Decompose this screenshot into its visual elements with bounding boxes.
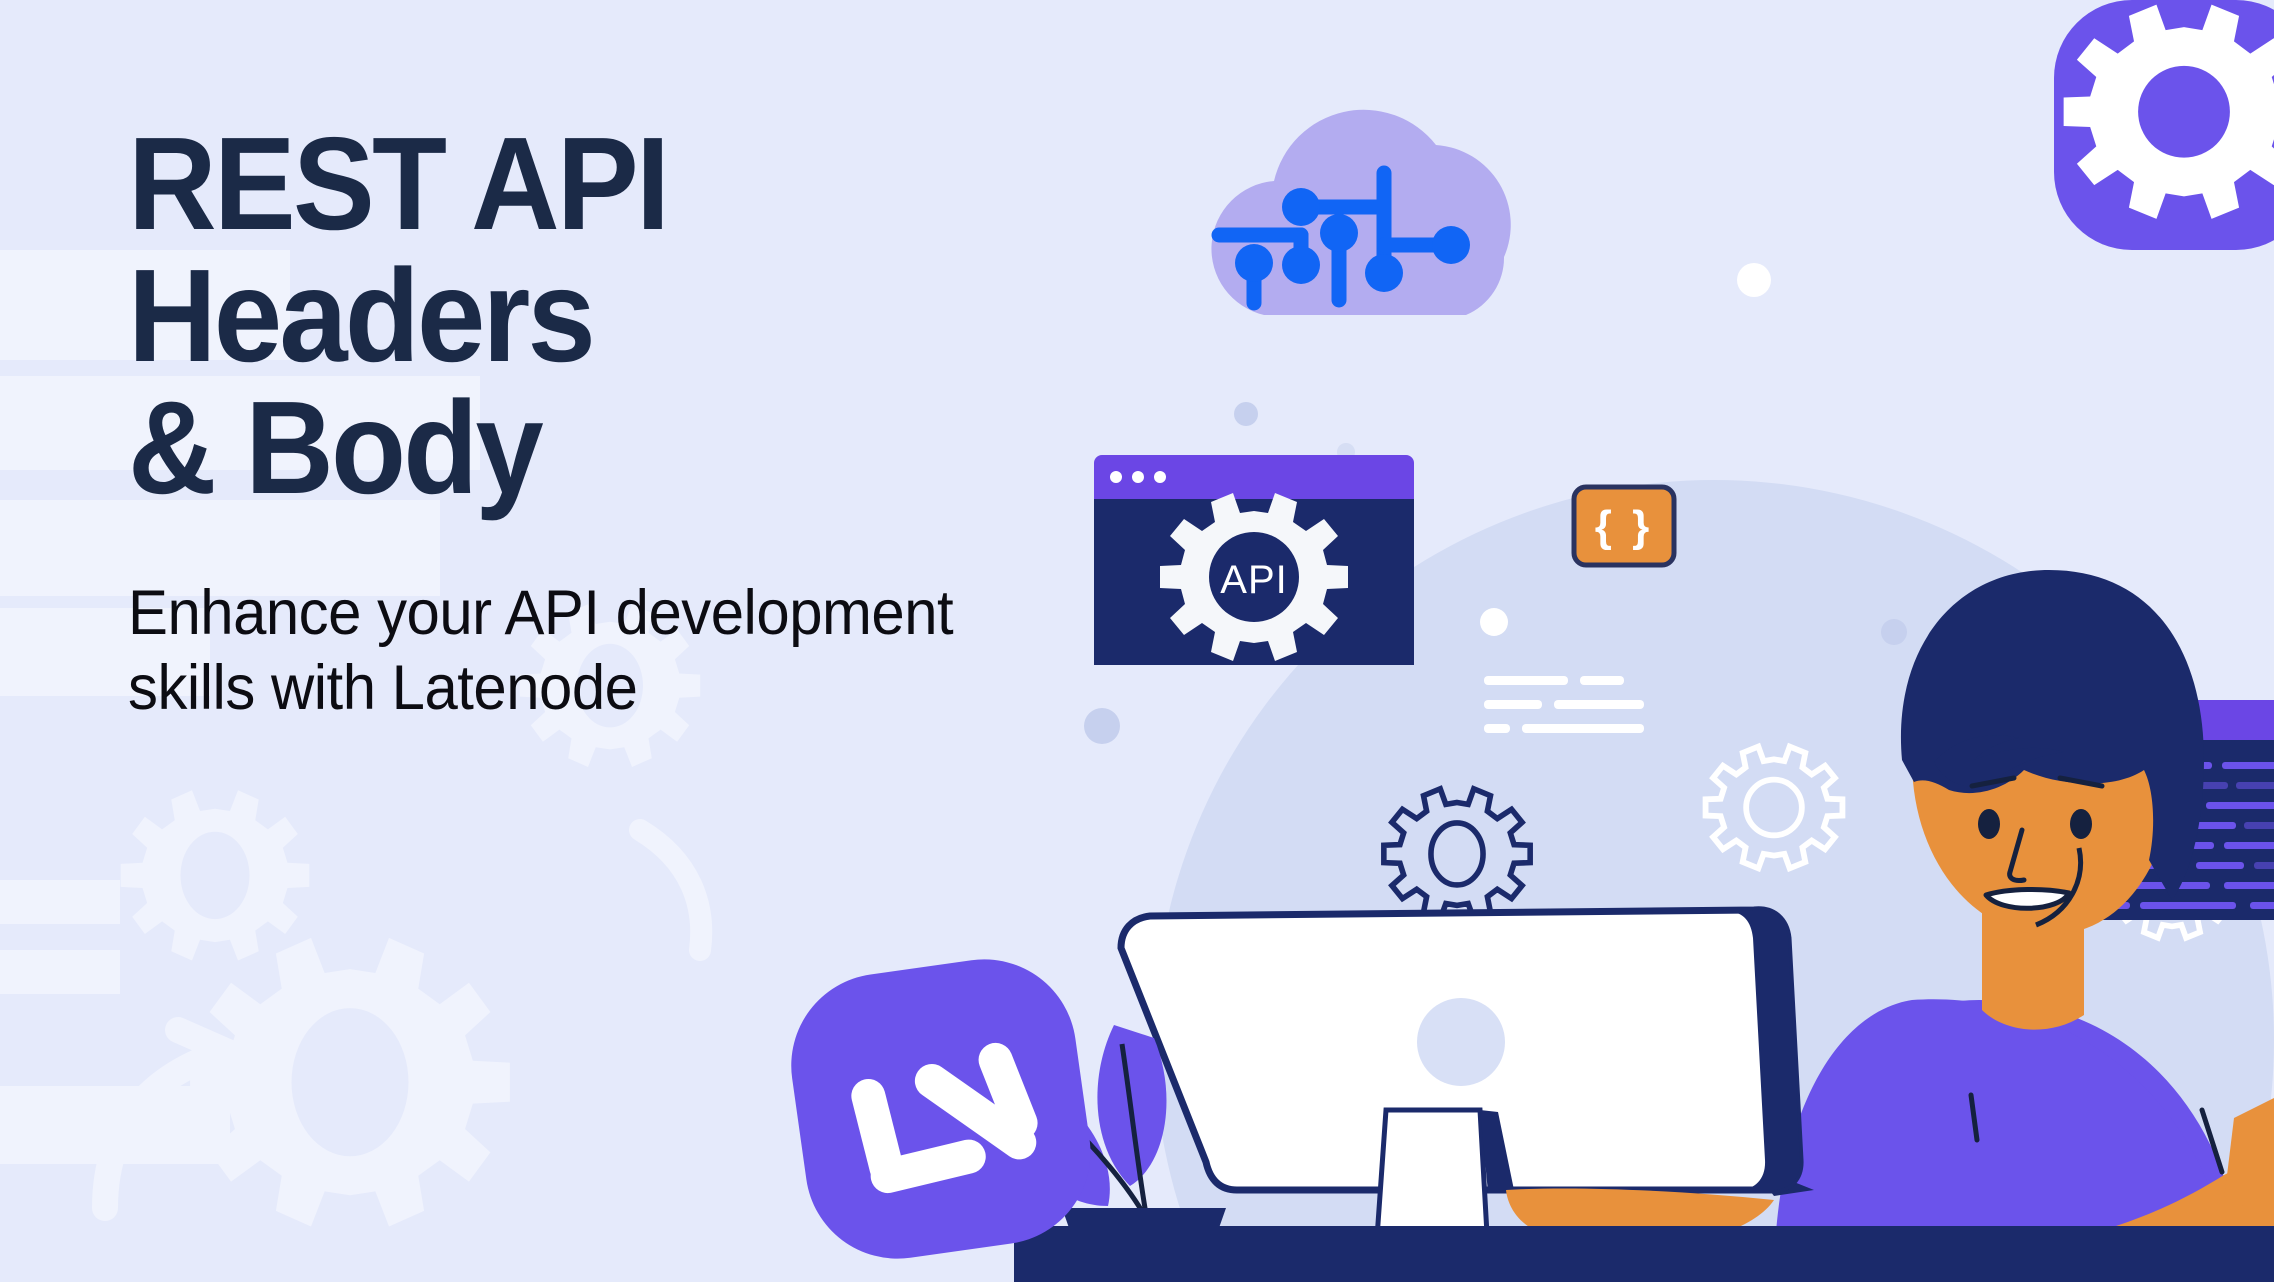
soft-gear-icon [190, 938, 510, 1227]
soft-rectangle [0, 880, 120, 924]
monitor-mount-circle [1417, 998, 1505, 1086]
page-subtitle: Enhance your API development skills with… [128, 576, 983, 726]
person-eye [2070, 809, 2092, 839]
hero-illustration: { } API [1074, 0, 2274, 1282]
banner-root: REST API Headers & Body Enhance your API… [0, 0, 2274, 1282]
person-mouth [1986, 889, 2069, 908]
soft-arc-icon [640, 830, 701, 950]
cloud-icon [1211, 110, 1510, 315]
soft-rectangle [0, 950, 120, 994]
json-badge: { } [1574, 487, 1674, 565]
logo-badge-square [779, 947, 1102, 1270]
desk-edge [1014, 1226, 2274, 1240]
person-eye [1978, 809, 2000, 839]
page-title: REST API Headers & Body [128, 118, 1132, 514]
json-badge-label: { } [1595, 502, 1653, 551]
latenode-logo[interactable] [766, 938, 1116, 1282]
gear-badge [2054, 0, 2274, 250]
api-label: API [1220, 558, 1287, 602]
desk-surface [1014, 1238, 2274, 1282]
text-block: REST API Headers & Body Enhance your API… [128, 118, 1208, 726]
soft-gear-icon [121, 790, 310, 960]
